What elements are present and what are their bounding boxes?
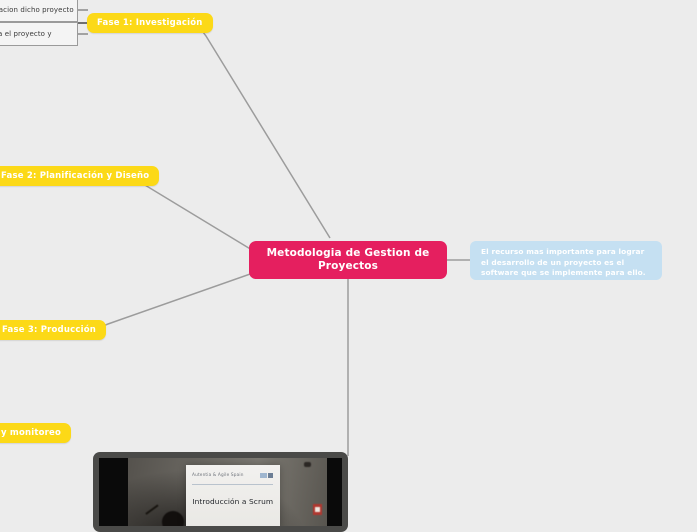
node-fase-1[interactable]: Fase 1: Investigación [87,13,213,33]
slide-logo-icon [260,473,273,478]
detail-box[interactable]: zacion dicho proyecto [0,0,78,22]
slide-divider [192,484,273,485]
video-frame: Autentia & Agile Spain Introducción a Sc… [99,458,342,526]
red-device [313,504,322,515]
node-label: y monitoreo [1,428,61,438]
detail-box-text: ra el proyecto y [0,30,52,38]
node-note[interactable]: El recurso mas importante para lograr el… [470,241,662,280]
slide-header: Autentia & Agile Spain [192,473,273,478]
node-label: Metodologia de Gestion de Proyectos [259,247,437,274]
wall-speaker [304,462,311,467]
node-label: Fase 3: Producción [2,325,96,335]
node-video-thumbnail[interactable]: Autentia & Agile Spain Introducción a Sc… [93,452,348,532]
detail-box-text: zacion dicho proyecto [0,6,74,14]
slide-header-text: Autentia & Agile Spain [192,473,244,478]
slide-title-text: Introducción a Scrum [186,497,280,506]
presenter-arm [145,504,159,515]
node-fase-3[interactable]: Fase 3: Producción [0,320,106,340]
video-scene: Autentia & Agile Spain Introducción a Sc… [128,458,327,526]
presenter-head [162,511,184,526]
projected-slide: Autentia & Agile Spain Introducción a Sc… [186,465,280,526]
note-text: El recurso mas importante para lograr el… [481,247,646,277]
node-fase-4[interactable]: y monitoreo [0,423,71,443]
node-root-metodologia[interactable]: Metodologia de Gestion de Proyectos [249,241,447,279]
node-label: Fase 2: Planificación y Diseño [1,171,149,181]
detail-box[interactable]: ra el proyecto y [0,22,78,46]
node-label: Fase 1: Investigación [97,18,203,28]
node-fase-2[interactable]: Fase 2: Planificación y Diseño [0,166,159,186]
mindmap-canvas[interactable]: zacion dicho proyecto ra el proyecto y F… [0,0,697,520]
